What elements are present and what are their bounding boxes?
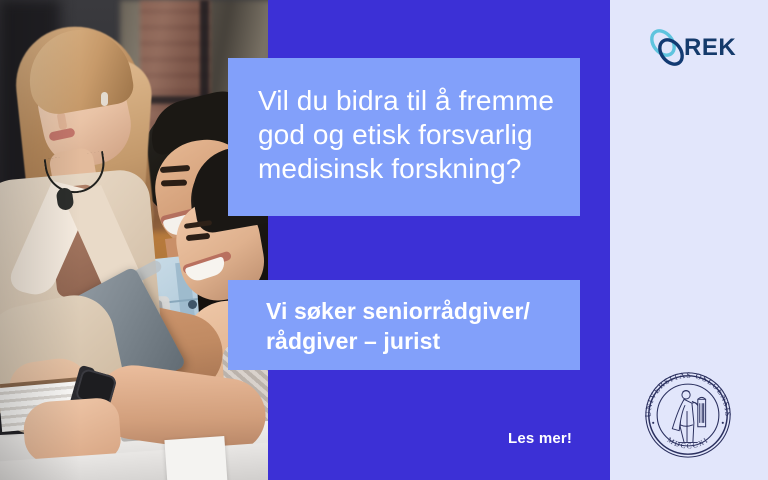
headline-box: Vil du bidra til å fremme god og etisk f… — [228, 58, 580, 216]
uio-seal-apollo-figure — [672, 391, 705, 443]
photo-person-man-eye — [161, 180, 187, 187]
rek-logo[interactable]: REK — [646, 26, 738, 70]
subheadline-box: Vi søker seniorrådgiver/ rådgiver – juri… — [228, 280, 580, 370]
uio-seal-icon[interactable]: UNIVERSITAS OSLOENSIS MDCCCXI — [639, 366, 737, 464]
read-more-cta[interactable]: Les mer! — [508, 430, 572, 447]
headline-text: Vil du bidra til å fremme god og etisk f… — [258, 84, 568, 186]
subheadline-text: Vi søker seniorrådgiver/ rådgiver – juri… — [266, 296, 570, 356]
photo-person-man-shirt-button — [188, 300, 197, 309]
photo-person-woman1-earring — [101, 92, 108, 106]
rek-wordmark: REK — [684, 34, 736, 62]
photo-paper — [164, 436, 227, 480]
recruitment-banner: REK UNIVERSITAS OSLOENSIS MDCCCXI — [0, 0, 768, 480]
